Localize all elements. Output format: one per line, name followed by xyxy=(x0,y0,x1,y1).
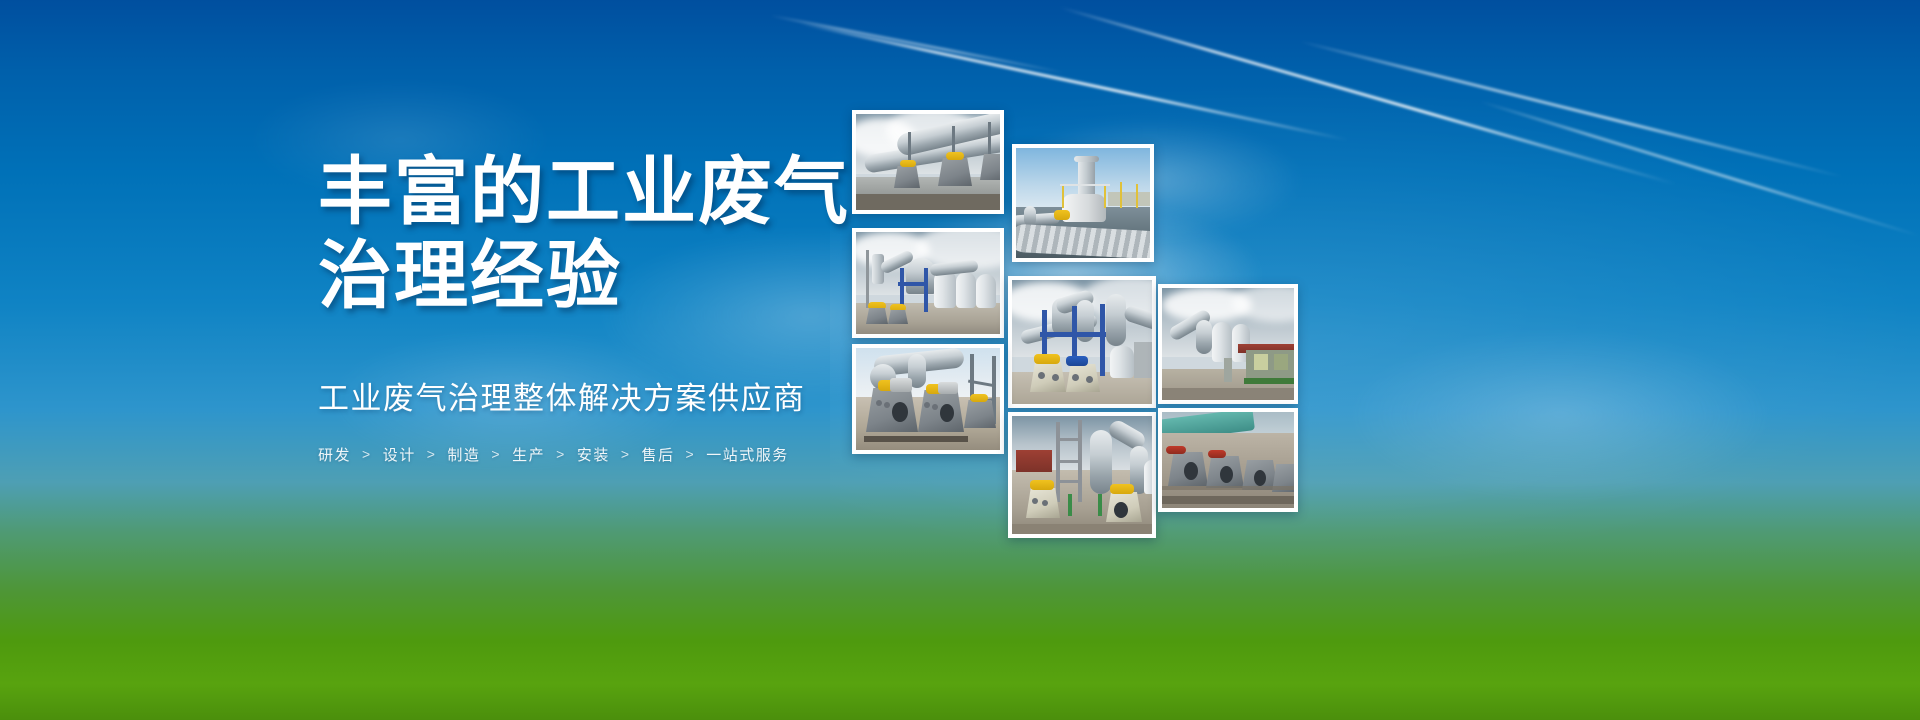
photo-pipeline-rack xyxy=(1008,276,1156,408)
photo-rto-plant xyxy=(1012,144,1154,262)
photo-collage xyxy=(0,0,1920,720)
photo-workshop-fans xyxy=(1008,412,1156,538)
photo-outdoor-equipment xyxy=(1158,284,1298,404)
photo-scrubber-towers xyxy=(852,228,1004,338)
photo-ducting-rooftop xyxy=(852,110,1004,214)
photo-centrifugal-fans xyxy=(852,344,1004,454)
hero-banner: 丰富的工业废气 治理经验 工业废气治理整体解决方案供应商 研发 > 设计 > 制… xyxy=(0,0,1920,720)
photo-fan-housings-yard xyxy=(1158,408,1298,512)
